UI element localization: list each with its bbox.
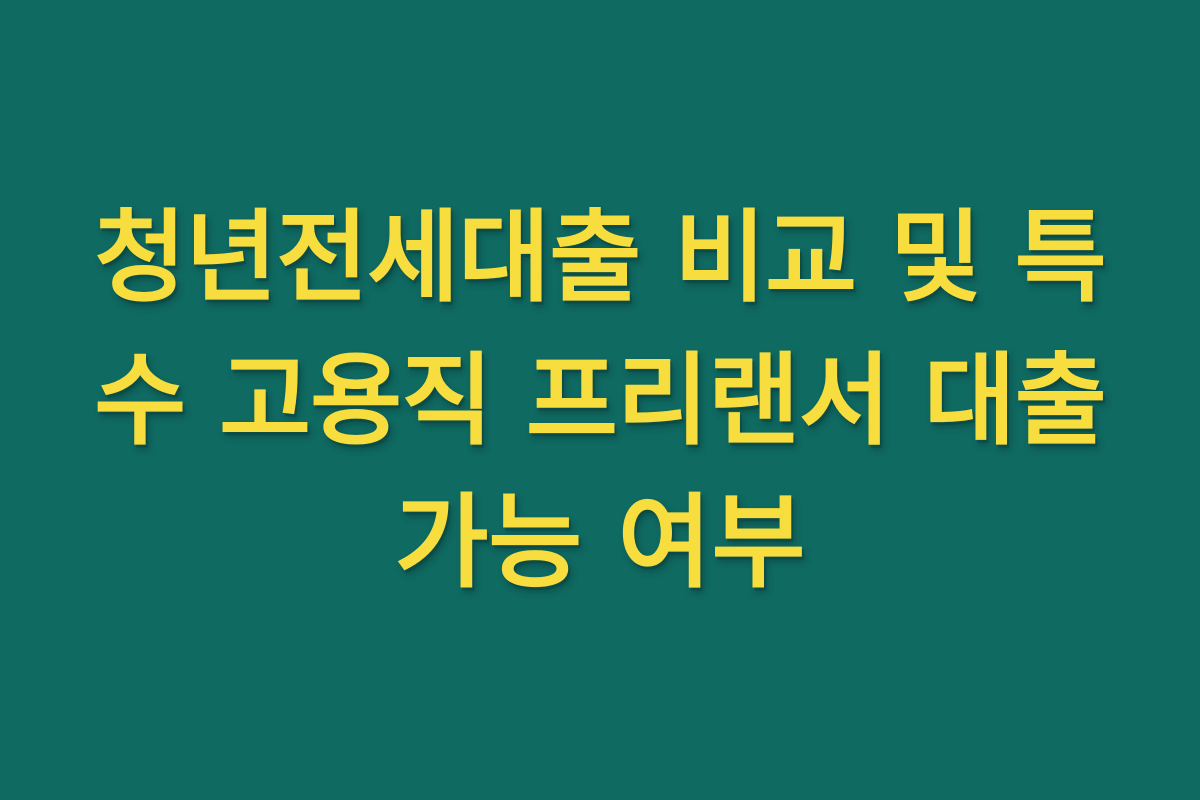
banner-title-line-1: 청년전세대출 비교 및 특 [80, 186, 1120, 329]
banner-title-block: 청년전세대출 비교 및 특 수 고용직 프리랜서 대출 가능 여부 [80, 186, 1120, 615]
banner-title-line-3: 가능 여부 [80, 472, 1120, 615]
banner-canvas: 청년전세대출 비교 및 특 수 고용직 프리랜서 대출 가능 여부 [0, 0, 1200, 800]
banner-title-line-2: 수 고용직 프리랜서 대출 [80, 329, 1120, 472]
